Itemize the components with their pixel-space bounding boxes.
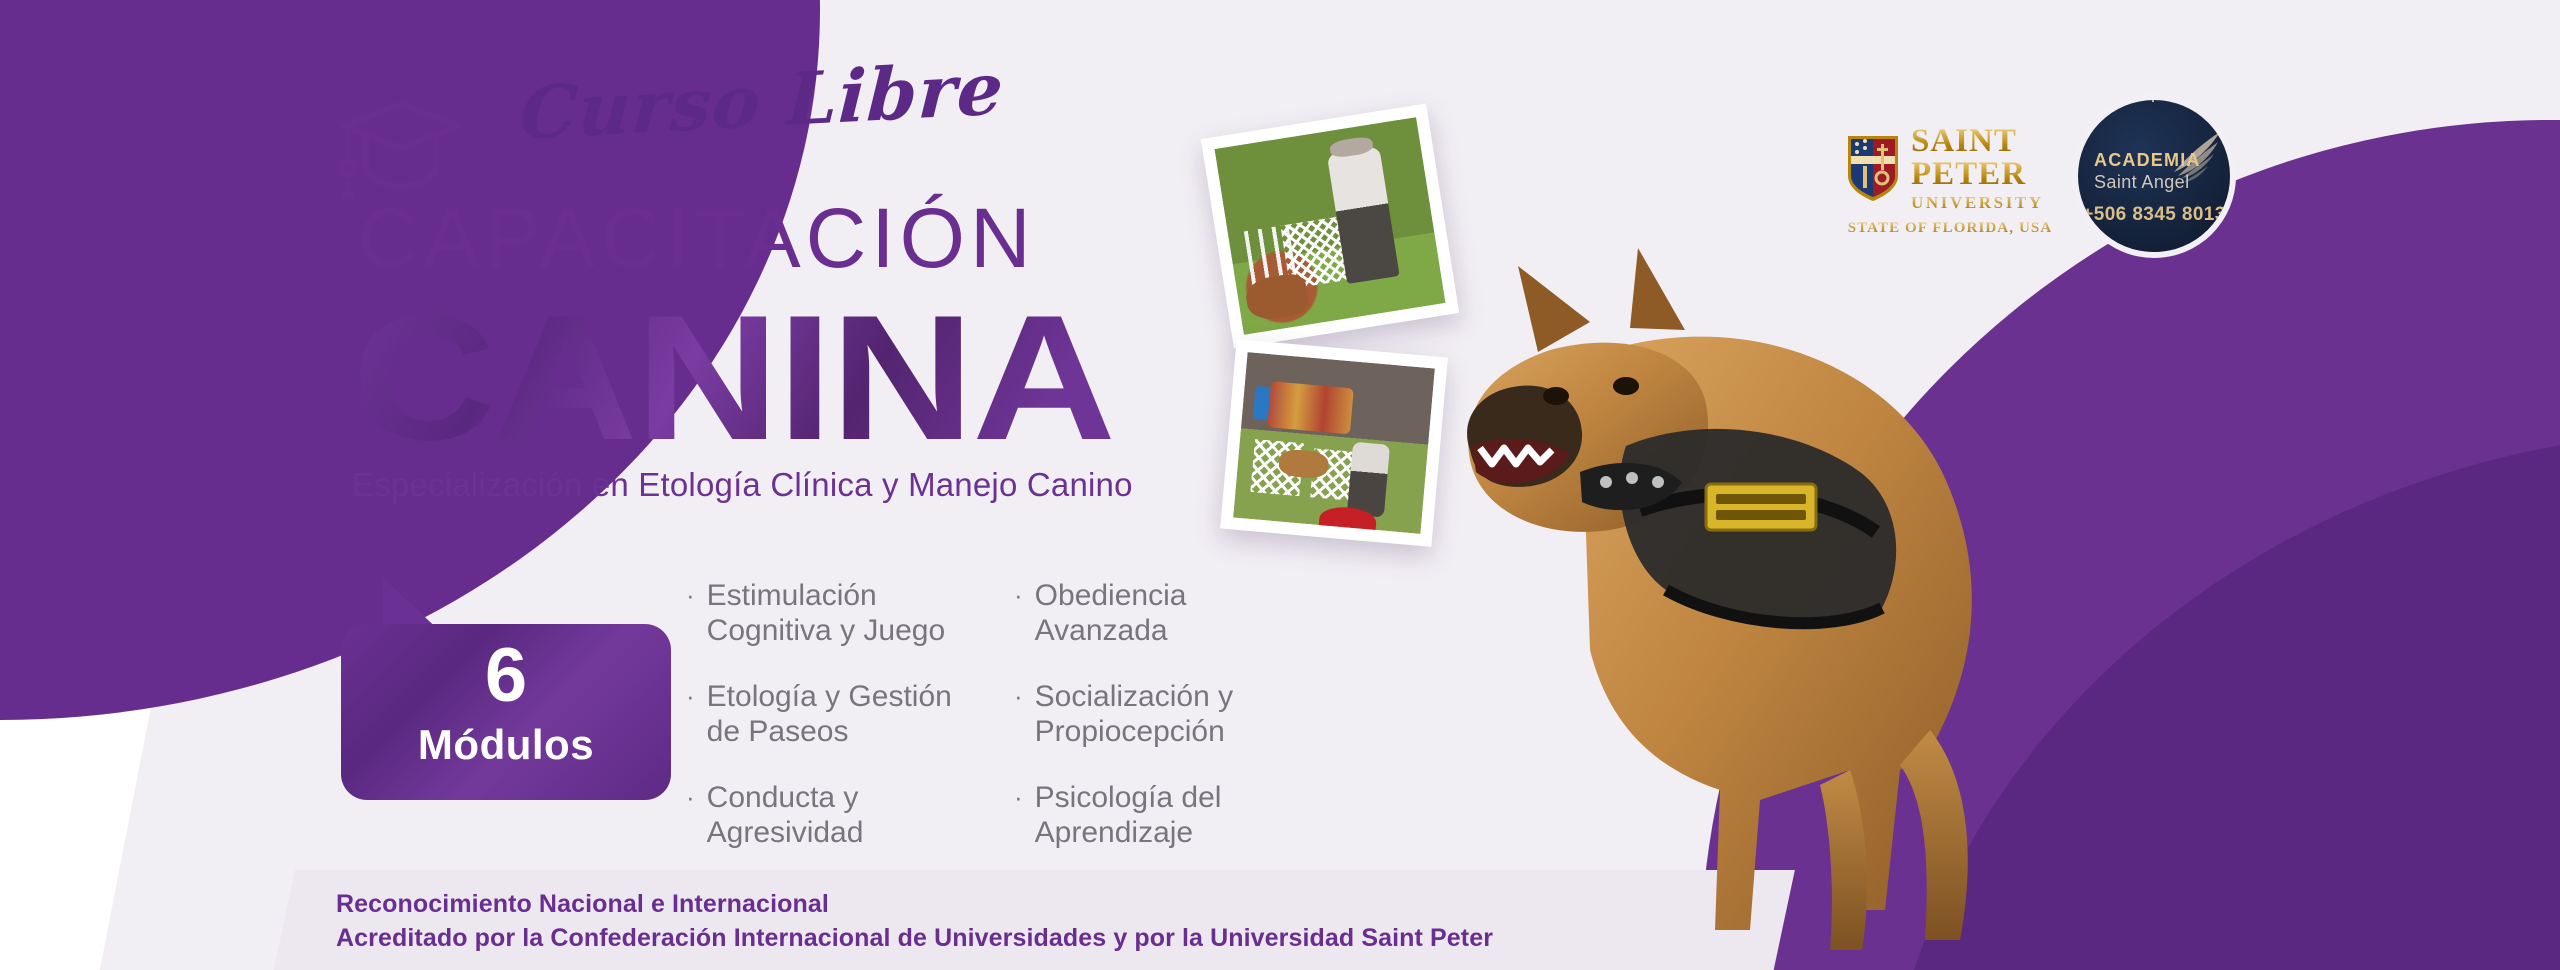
list-item: · Estimulación Cognitiva y Juego <box>686 578 978 649</box>
agility-photo-top <box>1201 103 1459 348</box>
bullet-icon: · <box>686 679 695 712</box>
badge-tick-mark <box>2152 100 2154 102</box>
accreditation-line-2: Acreditado por la Confederación Internac… <box>336 922 1493 956</box>
logo-university-text: UNIVERSITY <box>1911 194 2044 211</box>
page-title-canina: CANINA <box>352 296 1114 460</box>
photo-image <box>1215 117 1446 335</box>
logo-peter-text: PETER <box>1911 158 2026 191</box>
bullet-icon: · <box>1014 679 1023 712</box>
academia-label: ACADEMIA <box>2094 150 2201 171</box>
module-label: Obediencia Avanzada <box>1035 578 1187 649</box>
bullet-icon: · <box>686 780 695 813</box>
shield-icon <box>1845 132 1901 204</box>
modules-list: · Estimulación Cognitiva y Juego · Obedi… <box>686 578 1306 850</box>
module-label: Etología y Gestión de Paseos <box>707 679 952 750</box>
badge-label: Módulos <box>341 724 671 766</box>
list-item: · Etología y Gestión de Paseos <box>686 679 978 750</box>
page-title-capacitacion: CAPACITACIÓN <box>358 196 1036 280</box>
logo-state-text: STATE OF FLORIDA, USA <box>1845 220 2055 237</box>
logo-saint-text: SAINT <box>1911 125 2017 158</box>
eyebrow-curso-libre: Curso Libre <box>518 45 1006 156</box>
bullet-icon: · <box>1014 780 1023 813</box>
module-label: Socialización y Propiocepción <box>1035 679 1233 750</box>
saint-peter-university-logo: SAINT PETER UNIVERSITY STATE OF FLORIDA,… <box>1845 100 2055 235</box>
accreditation-line-1: Reconocimiento Nacional e Internacional <box>336 888 1493 922</box>
promotional-banner: Curso Libre CAPACITACIÓN CANINA Especial… <box>0 0 2560 970</box>
badge-number: 6 <box>341 638 671 714</box>
list-item: · Socialización y Propiocepción <box>1014 679 1306 750</box>
module-label: Conducta y Agresividad <box>707 780 864 851</box>
bullet-icon: · <box>686 578 695 611</box>
academia-saint-angel-logo: ACADEMIA Saint Angel +506 8345 8013 <box>2078 100 2230 252</box>
accreditation-footer: Reconocimiento Nacional e Internacional … <box>336 888 1493 956</box>
module-label: Estimulación Cognitiva y Juego <box>707 578 945 649</box>
agility-photo-bottom <box>1220 339 1448 547</box>
phone-number: +506 8345 8013 <box>2078 204 2230 226</box>
photo-image <box>1233 352 1435 534</box>
list-item: · Conducta y Agresividad <box>686 780 978 851</box>
modules-count-badge: 6 Módulos <box>341 624 671 800</box>
list-item: · Psicología del Aprendizaje <box>1014 780 1306 851</box>
list-item: · Obediencia Avanzada <box>1014 578 1306 649</box>
saint-angel-label: Saint Angel <box>2094 172 2189 193</box>
malinois-dog-photo <box>1430 210 2170 970</box>
bullet-icon: · <box>1014 578 1023 611</box>
page-subtitle: Especialización en Etología Clínica y Ma… <box>352 466 1133 504</box>
module-label: Psicología del Aprendizaje <box>1035 780 1222 851</box>
